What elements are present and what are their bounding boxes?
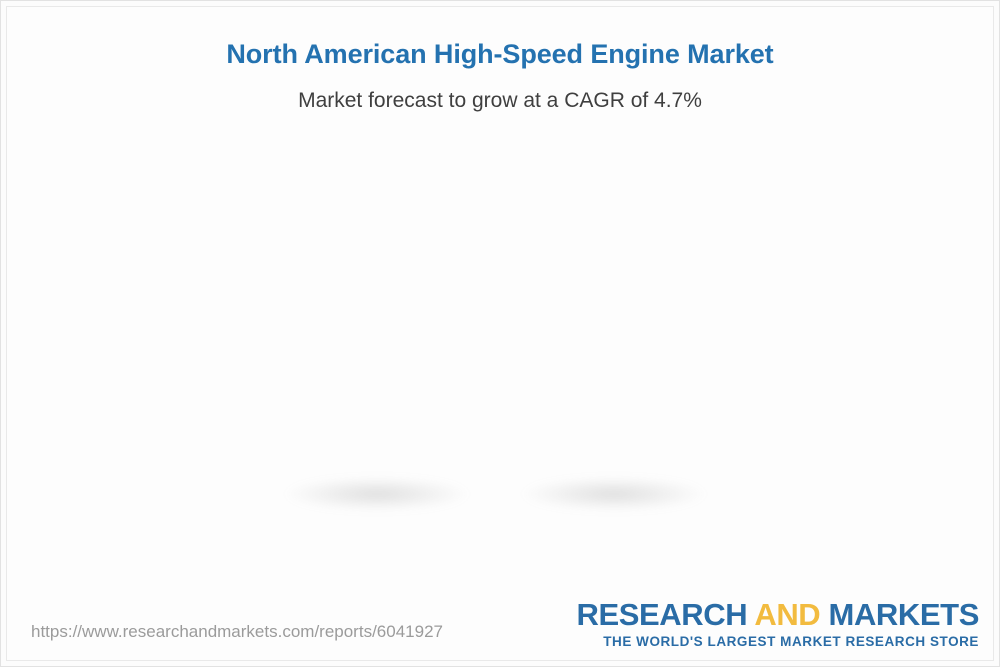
brand-word-markets: MARKETS	[829, 597, 979, 632]
chart-figure: North American High-Speed Engine Market …	[0, 0, 1000, 667]
source-url[interactable]: https://www.researchandmarkets.com/repor…	[31, 622, 443, 642]
brand-tagline: THE WORLD'S LARGEST MARKET RESEARCH STOR…	[576, 635, 979, 649]
brand-logo[interactable]: RESEARCH AND MARKETS THE WORLD'S LARGEST…	[576, 599, 979, 649]
brand-wordmark: RESEARCH AND MARKETS	[576, 599, 979, 630]
brand-word-and: AND	[754, 597, 820, 632]
bar-shadow-2030	[523, 477, 705, 511]
bar-shadow-2022	[286, 477, 468, 511]
brand-word-research: RESEARCH	[576, 597, 747, 632]
plot-area: USD 5.99 Billion 2022 USD 8.67 Billion	[1, 1, 1000, 667]
